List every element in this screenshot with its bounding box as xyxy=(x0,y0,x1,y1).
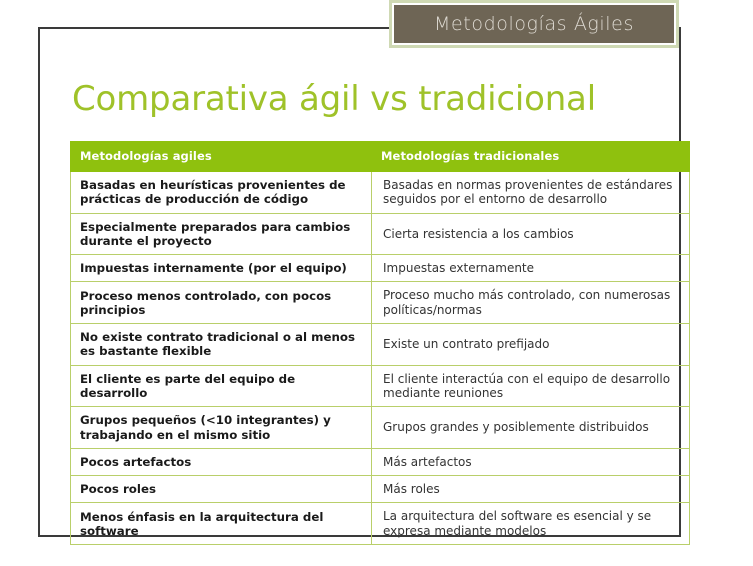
banner-title-text: Metodologías Ágiles xyxy=(434,13,634,35)
banner-inner-panel: Metodologías Ágiles xyxy=(392,3,676,45)
cell-agile: Menos énfasis en la arquitectura del sof… xyxy=(71,503,372,545)
cell-traditional: Más artefactos xyxy=(372,448,690,475)
column-header-traditional: Metodologías tradicionales xyxy=(372,142,690,172)
cell-traditional: Impuestas externamente xyxy=(372,255,690,282)
cell-agile: No existe contrato tradicional o al meno… xyxy=(71,324,372,365)
cell-agile: Pocos roles xyxy=(71,476,372,503)
table-body: Basadas en heurísticas provenientes de p… xyxy=(71,172,690,545)
cell-traditional: Más roles xyxy=(372,476,690,503)
cell-agile: Proceso menos controlado, con pocos prin… xyxy=(71,282,372,324)
table-row: Menos énfasis en la arquitectura del sof… xyxy=(71,503,690,545)
table-header: Metodologías agiles Metodologías tradici… xyxy=(71,142,690,172)
cell-traditional: Basadas en normas provenientes de estánd… xyxy=(372,172,690,214)
cell-agile: Basadas en heurísticas provenientes de p… xyxy=(71,172,372,214)
cell-traditional: El cliente interactúa con el equipo de d… xyxy=(372,365,690,407)
cell-agile: Grupos pequeños (<10 integrantes) y trab… xyxy=(71,407,372,448)
table-row: Impuestas internamente (por el equipo) I… xyxy=(71,255,690,282)
cell-agile: Impuestas internamente (por el equipo) xyxy=(71,255,372,282)
page-title: Comparativa ágil vs tradicional xyxy=(72,79,596,119)
cell-agile: Especialmente preparados para cambios du… xyxy=(71,213,372,254)
table-row: Grupos pequeños (<10 integrantes) y trab… xyxy=(71,407,690,448)
cell-agile: Pocos artefactos xyxy=(71,448,372,475)
cell-traditional: Proceso mucho más controlado, con numero… xyxy=(372,282,690,324)
table-row: Basadas en heurísticas provenientes de p… xyxy=(71,172,690,214)
comparison-table: Metodologías agiles Metodologías tradici… xyxy=(70,141,690,545)
table-row: Pocos artefactos Más artefactos xyxy=(71,448,690,475)
cell-traditional: La arquitectura del software es esencial… xyxy=(372,503,690,545)
cell-traditional: Existe un contrato prefijado xyxy=(372,324,690,365)
column-header-agile: Metodologías agiles xyxy=(71,142,372,172)
table-row: No existe contrato tradicional o al meno… xyxy=(71,324,690,365)
slide-header-banner: Metodologías Ágiles xyxy=(389,0,679,48)
table-row: El cliente es parte del equipo de desarr… xyxy=(71,365,690,407)
table-header-row: Metodologías agiles Metodologías tradici… xyxy=(71,142,690,172)
cell-agile: El cliente es parte del equipo de desarr… xyxy=(71,365,372,407)
cell-traditional: Cierta resistencia a los cambios xyxy=(372,213,690,254)
table-row: Proceso menos controlado, con pocos prin… xyxy=(71,282,690,324)
table-row: Pocos roles Más roles xyxy=(71,476,690,503)
cell-traditional: Grupos grandes y posiblemente distribuid… xyxy=(372,407,690,448)
table-row: Especialmente preparados para cambios du… xyxy=(71,213,690,254)
